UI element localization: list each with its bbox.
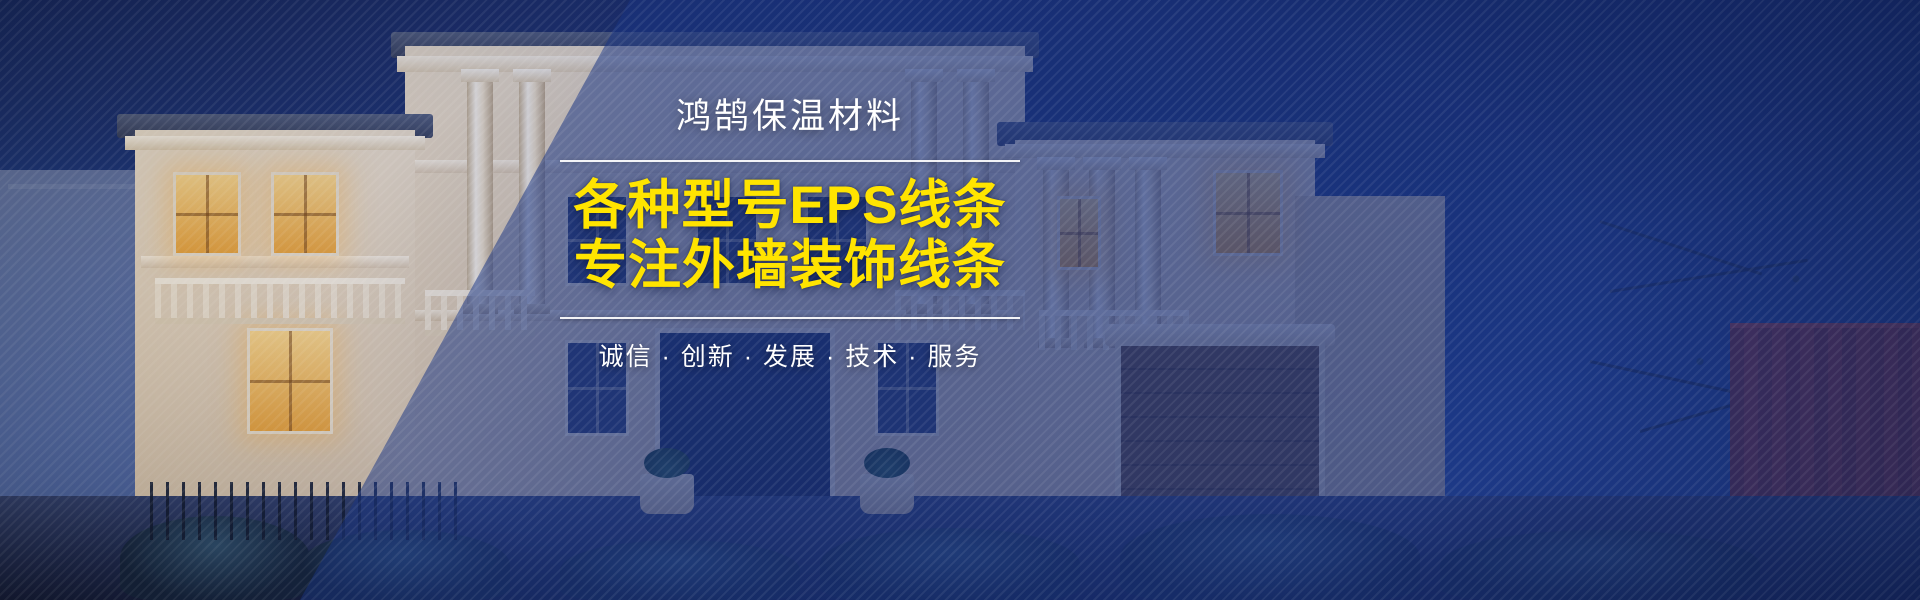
balustrade: [425, 290, 535, 336]
divider-top: [560, 160, 1020, 162]
planter: [860, 474, 914, 514]
shrub: [300, 530, 510, 600]
fence: [150, 482, 470, 540]
column: [519, 82, 545, 304]
shrub: [560, 540, 800, 600]
hero-banner: 鸿鹄保温材料 各种型号EPS线条 专注外墙装饰线条 诚信 · 创新 · 发展 ·…: [0, 0, 1920, 600]
banner-copy: 鸿鹄保温材料 各种型号EPS线条 专注外墙装饰线条 诚信 · 创新 · 发展 ·…: [560, 96, 1020, 373]
left-wing-band: [141, 256, 409, 268]
divider-bottom: [560, 317, 1020, 319]
window-lit: [271, 172, 339, 256]
brand-name: 鸿鹄保温材料: [560, 96, 1020, 138]
tree-branch: [1610, 259, 1808, 293]
balustrade: [155, 278, 405, 324]
window-lit: [1057, 196, 1101, 270]
shrub: [820, 528, 1080, 600]
red-container: [1730, 323, 1920, 508]
window-lit: [173, 172, 241, 256]
window-lit: [247, 328, 333, 434]
column: [467, 82, 493, 304]
shrub: [1440, 530, 1760, 600]
right-wing-cornice: [1005, 144, 1325, 158]
headline-line-1: 各种型号EPS线条: [560, 176, 1020, 236]
headline-line-2: 专注外墙装饰线条: [560, 236, 1020, 296]
left-wing-cornice: [125, 136, 425, 150]
planter: [640, 474, 694, 514]
tree-branch: [1600, 220, 1763, 275]
shrub: [1120, 514, 1420, 600]
tagline: 诚信 · 创新 · 发展 · 技术 · 服务: [560, 337, 1020, 373]
window-lit: [1213, 170, 1283, 256]
